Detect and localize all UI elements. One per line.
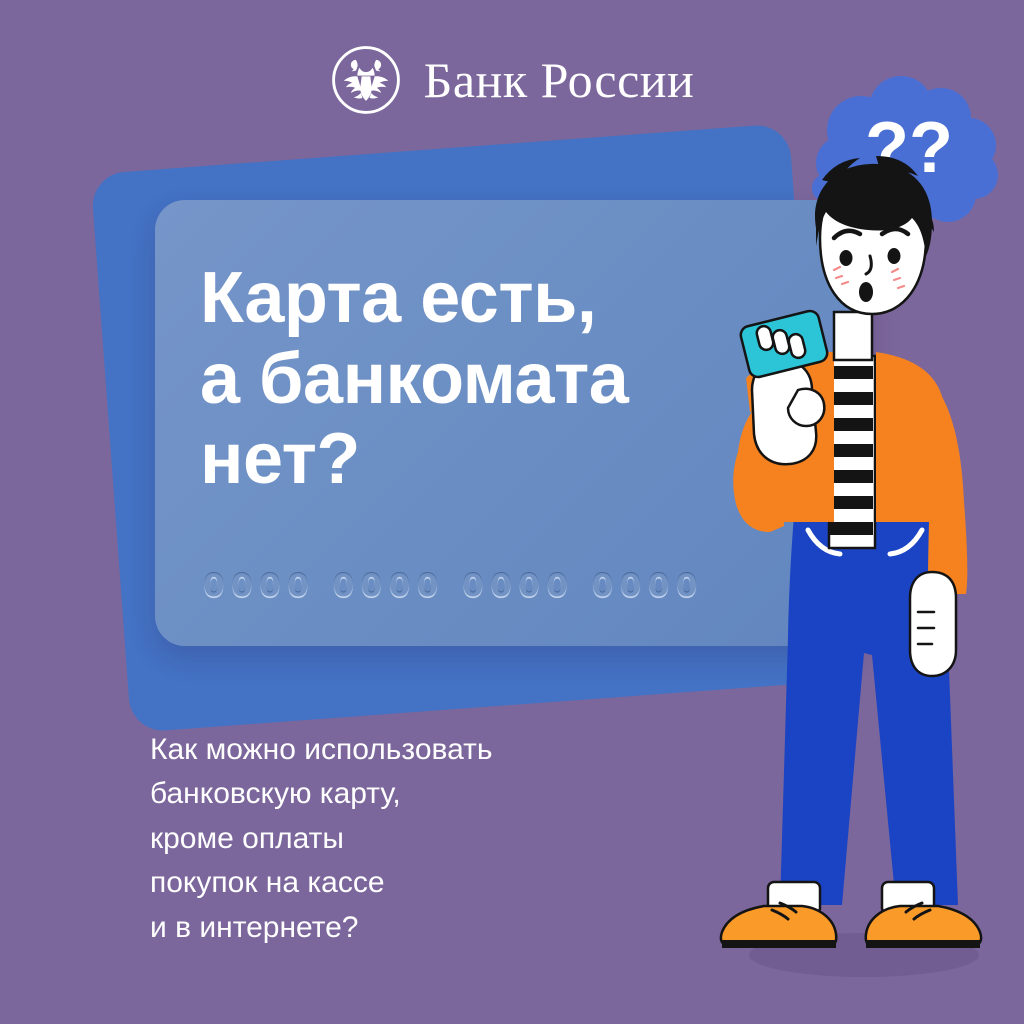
poster-canvas: Банк России Карта есть, а банкомата нет?…	[0, 0, 1024, 1024]
brand-header: Банк России	[0, 44, 1024, 116]
double-headed-eagle-icon	[330, 44, 402, 116]
character-illustration: ??	[686, 60, 1024, 1010]
eye-left	[840, 250, 853, 266]
eye-right	[888, 248, 901, 264]
brand-name: Банк России	[424, 55, 695, 105]
card-number: 0000 0000 0000 0000	[203, 568, 704, 604]
mouth	[859, 282, 873, 302]
character-svg: ??	[686, 60, 1024, 1010]
caption-text: Как можно использовать банковскую карту,…	[150, 728, 670, 950]
head	[815, 156, 934, 314]
right-hand	[910, 572, 956, 676]
neck	[834, 312, 872, 360]
